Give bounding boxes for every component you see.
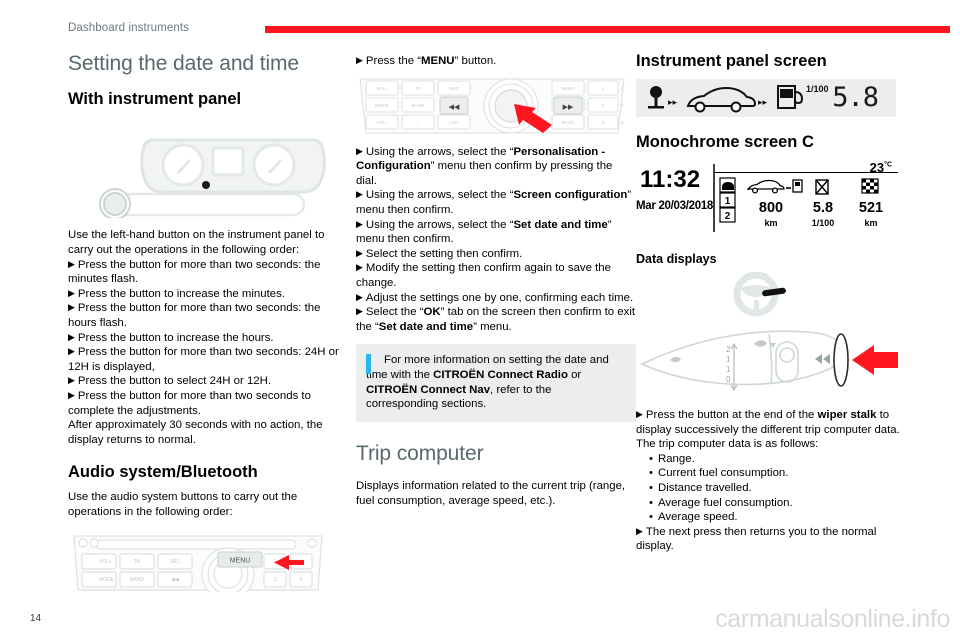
svg-text:5: 5 xyxy=(300,577,303,583)
source-watermark: carmanualsonline.info xyxy=(715,605,950,634)
svg-text:1: 1 xyxy=(726,355,731,364)
svg-text:1: 1 xyxy=(602,86,605,91)
svg-text:VOL+: VOL+ xyxy=(376,86,388,91)
instrument-panel-lcd-figure: ▸▸ ▸▸ 1/100 5.8 xyxy=(636,79,896,117)
step-item: ▶Press the button to select 24H or 12H. xyxy=(68,374,348,389)
triangle-right-icon: ▶ xyxy=(356,146,366,156)
svg-text:SRC: SRC xyxy=(449,86,459,91)
step-text-pre: Press the “ xyxy=(366,55,421,67)
step-item: ▶Select the setting then confirm. xyxy=(356,247,636,262)
step-next-press: ▶The next press then returns you to the … xyxy=(636,525,916,554)
step-item: ▶Modify the setting then confirm again t… xyxy=(356,261,636,290)
step-item: ▶Using the arrows, select the “Screen co… xyxy=(356,188,636,217)
mid-steps-list: ▶Using the arrows, select the “Personali… xyxy=(356,145,636,335)
trip-intro-text: Displays information related to the curr… xyxy=(356,479,636,508)
step-item: ▶Press the button for more than two seco… xyxy=(68,301,348,330)
gear-car-icon xyxy=(722,182,734,190)
trip-data-bullet-list: Range. Current fuel consumption. Distanc… xyxy=(636,452,916,525)
gear-label-2: 2 xyxy=(725,211,731,222)
audio-system-panel-figure: MENU VOL+TASRC MODEBAND◀◀ 14 25 xyxy=(68,530,348,592)
car-icon xyxy=(688,88,755,112)
fuel-pump-icon xyxy=(778,86,802,108)
triangle-right-icon: ▶ xyxy=(356,219,366,229)
step-item: ▶Press the button for more than two seco… xyxy=(68,258,348,287)
lcd-unit-label: 1/100 xyxy=(806,84,829,94)
three-column-body: Setting the date and time With instrumen… xyxy=(0,44,960,584)
mono-cell-value: 800 xyxy=(744,200,798,216)
audio-intro-text: Use the audio system buttons to carry ou… xyxy=(68,490,348,519)
svg-text:2: 2 xyxy=(726,345,731,354)
svg-text:BAND: BAND xyxy=(130,577,144,583)
svg-text:5: 5 xyxy=(621,103,624,108)
step-press-wiper-stalk: ▶Press the button at the end of the wipe… xyxy=(636,408,916,452)
list-item: Current fuel consumption. xyxy=(658,466,916,481)
svg-text:3: 3 xyxy=(602,120,605,125)
step-text: Select the “OK” tab on the screen then c… xyxy=(356,306,635,333)
red-pointer-arrow xyxy=(852,345,898,375)
list-item: Average fuel consumption. xyxy=(658,496,916,511)
step-item: ▶Press the button to increase the hours. xyxy=(68,331,348,346)
triangle-right-icon: ▶ xyxy=(68,288,78,298)
svg-text:MODE: MODE xyxy=(375,103,389,108)
step-press-menu: ▶Press the “MENU” button. xyxy=(356,54,636,69)
svg-text:BAND: BAND xyxy=(412,103,425,108)
step-item: ▶Using the arrows, select the “Set date … xyxy=(356,218,636,247)
svg-text:MODE: MODE xyxy=(99,577,115,583)
step-text: Press the button for more than two secon… xyxy=(68,302,320,329)
menu-keyword: MENU xyxy=(421,55,455,67)
svg-text:◀◀: ◀◀ xyxy=(171,577,179,583)
step-text: Press the button for more than two secon… xyxy=(68,390,311,417)
triangle-right-icon: ▶ xyxy=(356,292,366,302)
svg-text:VOL+: VOL+ xyxy=(99,559,112,565)
stalk-scale-labels: 2110 xyxy=(726,345,731,384)
list-item: Distance travelled. xyxy=(658,481,916,496)
subsection-title-audio-bluetooth: Audio system/Bluetooth xyxy=(68,463,348,482)
step-text: Adjust the settings one by one, confirmi… xyxy=(366,292,633,304)
fuel-consumption-icon xyxy=(816,180,828,194)
range-car-pump-icon xyxy=(748,180,802,193)
monochrome-screen-c-figure: 11:32 Mar 20/03/2018 23°C 1 2 xyxy=(636,160,898,236)
list-item: Range. xyxy=(658,452,916,467)
list-item: Average speed. xyxy=(658,510,916,525)
svg-text:2: 2 xyxy=(274,577,277,583)
checkered-flag-icon xyxy=(862,179,878,193)
svg-text:TA: TA xyxy=(415,86,421,91)
instrument-panel-figure xyxy=(68,118,348,218)
info-callout-text: For more information on setting the date… xyxy=(366,353,626,411)
svg-text:1: 1 xyxy=(726,365,731,374)
step-item: ▶Select the “OK” tab on the screen then … xyxy=(356,305,636,334)
step-text: Using the arrows, select the “Screen con… xyxy=(356,189,631,216)
mono-cell-unit: km xyxy=(744,218,798,228)
triangle-right-icon: ▶ xyxy=(636,526,646,536)
svg-text:MENU: MENU xyxy=(561,86,575,91)
info-callout-box: For more information on setting the date… xyxy=(356,344,636,421)
mono-cell-value: 5.8 xyxy=(796,200,850,216)
svg-text:2: 2 xyxy=(602,103,605,108)
step-item: ▶Press the button for more than two seco… xyxy=(68,345,348,374)
triangle-right-icon: ▶ xyxy=(68,302,78,312)
section-title-trip-computer: Trip computer xyxy=(356,442,636,466)
step-text: Press the button to select 24H or 12H. xyxy=(78,375,271,387)
svg-text:TA: TA xyxy=(134,559,141,565)
step-text: The next press then returns you to the n… xyxy=(636,526,876,553)
mono-cell-unit: 1/100 xyxy=(796,218,850,228)
information-icon xyxy=(366,354,371,374)
mono-cell-value: 521 xyxy=(844,200,898,216)
mono-cell-unit: km xyxy=(844,218,898,228)
triangle-right-icon: ▶ xyxy=(68,259,78,269)
svg-text:VOL-: VOL- xyxy=(377,120,388,125)
step-text: Press the button at the end of the wiper… xyxy=(636,409,900,450)
next-track-icon: ▶▶ xyxy=(563,104,574,111)
step-item: ▶Press the button for more than two seco… xyxy=(68,389,348,418)
step-text: Modify the setting then confirm again to… xyxy=(356,262,611,289)
triangle-right-icon: ▶ xyxy=(68,390,78,400)
page-number: 14 xyxy=(30,613,41,624)
svg-text:6: 6 xyxy=(621,120,624,125)
step-item: ▶Press the button to increase the minute… xyxy=(68,287,348,302)
triangle-right-icon: ▶ xyxy=(68,375,78,385)
wiper-stalk-figure: 2110 xyxy=(636,272,916,400)
subsection-title-monochrome-screen-c: Monochrome screen C xyxy=(636,133,916,152)
svg-text:SRC: SRC xyxy=(170,559,181,565)
left-closing-text: After approximately 30 seconds with no a… xyxy=(68,418,348,447)
steering-wheel-icon xyxy=(737,275,786,313)
triangle-right-icon: ▶ xyxy=(356,262,366,272)
svg-text:▸▸: ▸▸ xyxy=(668,97,678,107)
step-item: ▶Using the arrows, select the “Personali… xyxy=(356,145,636,189)
lcd-value: 5.8 xyxy=(832,82,878,113)
right-column: Instrument panel screen ▸▸ ▸▸ xyxy=(636,44,916,554)
prev-track-icon: ◀◀ xyxy=(449,104,460,111)
svg-text:▸▸: ▸▸ xyxy=(758,97,768,107)
svg-text:0: 0 xyxy=(726,375,731,384)
breadcrumb-chapter-title: Dashboard instruments xyxy=(68,22,189,34)
svg-text:4: 4 xyxy=(621,86,624,91)
step-text: Press the button for more than two secon… xyxy=(68,259,320,286)
step-text: Using the arrows, select the “Set date a… xyxy=(356,219,612,246)
page-header: Dashboard instruments xyxy=(0,0,960,42)
subsection-title-with-instrument-panel: With instrument panel xyxy=(68,90,348,109)
triangle-right-icon: ▶ xyxy=(68,332,78,342)
step-text: Select the setting then confirm. xyxy=(366,248,522,260)
subsection-title-data-displays: Data displays xyxy=(636,252,916,266)
step-text: Press the button to increase the minutes… xyxy=(78,288,285,300)
triangle-right-icon: ▶ xyxy=(356,248,366,258)
left-hand-button-marker xyxy=(202,181,210,189)
page-title: Setting the date and time xyxy=(68,52,348,76)
step-text: Press the button to increase the hours. xyxy=(78,332,274,344)
triangle-right-icon: ▶ xyxy=(356,189,366,199)
triangle-right-icon: ▶ xyxy=(356,55,366,65)
step-text-post: ” button. xyxy=(455,55,497,67)
left-column: Setting the date and time With instrumen… xyxy=(68,44,348,592)
triangle-right-icon: ▶ xyxy=(356,306,366,316)
svg-text:BACK: BACK xyxy=(562,120,575,125)
step-item: ▶Adjust the settings one by one, confirm… xyxy=(356,291,636,306)
svg-text:♪: ♪ xyxy=(417,120,419,125)
step-text: Using the arrows, select the “Personalis… xyxy=(356,146,612,187)
header-red-rule xyxy=(265,26,950,33)
step-text: Press the button for more than two secon… xyxy=(68,346,339,373)
left-intro-text: Use the left-hand button on the instrume… xyxy=(68,228,348,257)
gear-label-1: 1 xyxy=(725,196,731,207)
audio-menu-button-label: MENU xyxy=(230,557,251,564)
middle-column: ▶Press the “MENU” button. xyxy=(356,44,636,508)
subsection-title-instrument-panel-screen: Instrument panel screen xyxy=(636,52,916,71)
audio-dial-figure: ◀◀ ▶▶ VOL+TASRC MODEBAND VOL-♪LIST MENU1… xyxy=(356,77,636,135)
info-text-content: For more information on setting the date… xyxy=(366,354,609,410)
triangle-right-icon: ▶ xyxy=(636,409,646,419)
svg-text:LIST: LIST xyxy=(449,120,459,125)
triangle-right-icon: ▶ xyxy=(68,346,78,356)
